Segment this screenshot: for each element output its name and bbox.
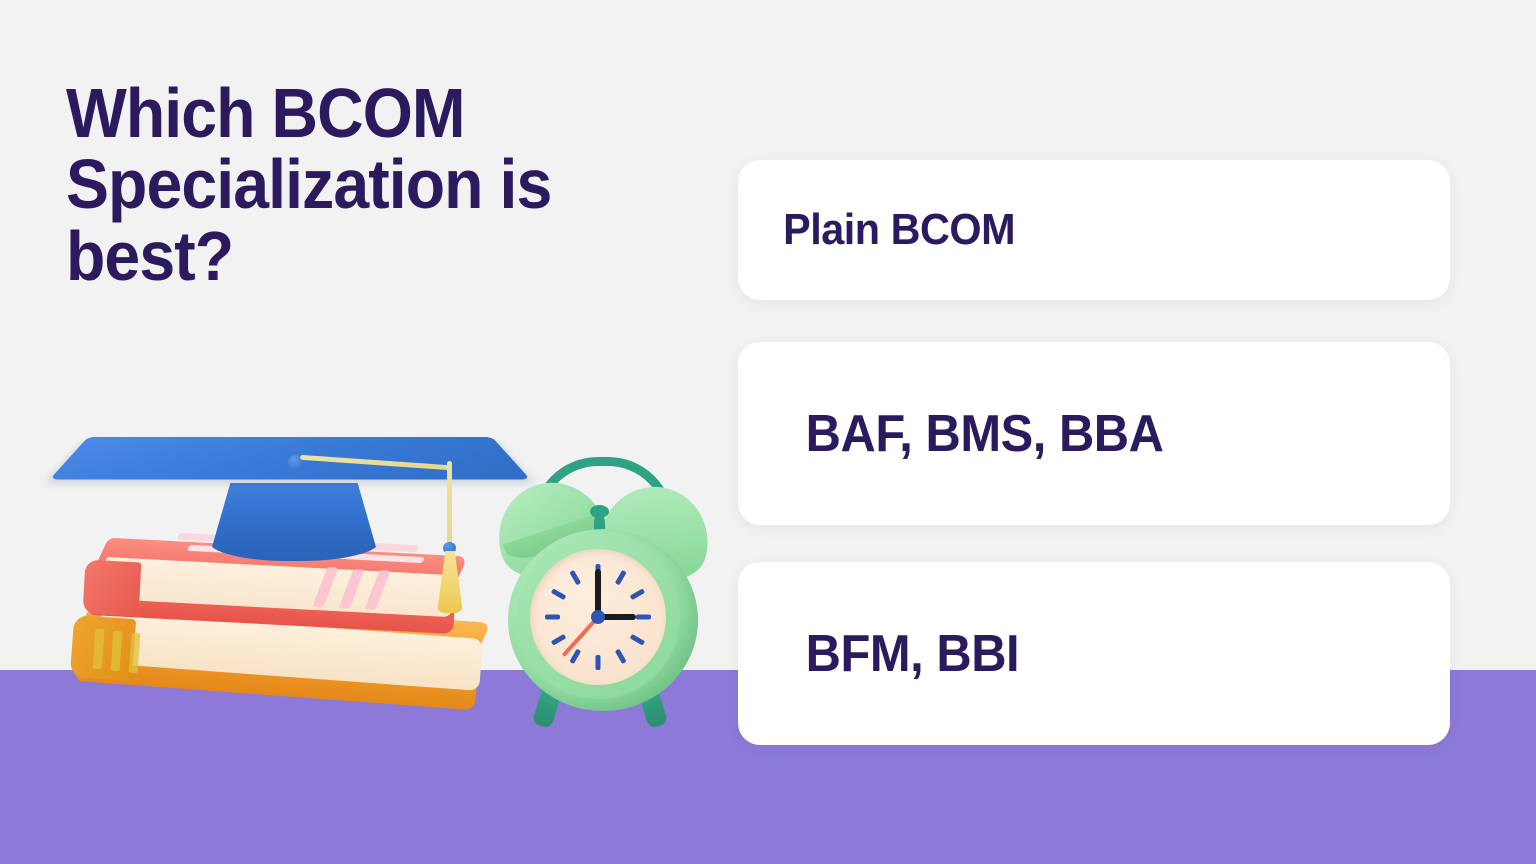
answer-option-2[interactable]: BAF, BMS, BBA [738,342,1450,525]
clock-hands [530,549,666,685]
answer-option-3-label: BFM, BBI [738,624,1019,684]
page-title: Which BCOM Specialization is best? [66,78,655,292]
answer-option-1-label: Plain BCOM [738,205,1015,255]
answer-option-1[interactable]: Plain BCOM [738,160,1450,300]
alarm-clock-icon [490,445,720,715]
education-illustration [60,415,720,735]
answer-option-2-label: BAF, BMS, BBA [738,404,1163,464]
answer-option-3[interactable]: BFM, BBI [738,562,1450,745]
quiz-slide: Which BCOM Specialization is best? Plain… [0,0,1536,864]
